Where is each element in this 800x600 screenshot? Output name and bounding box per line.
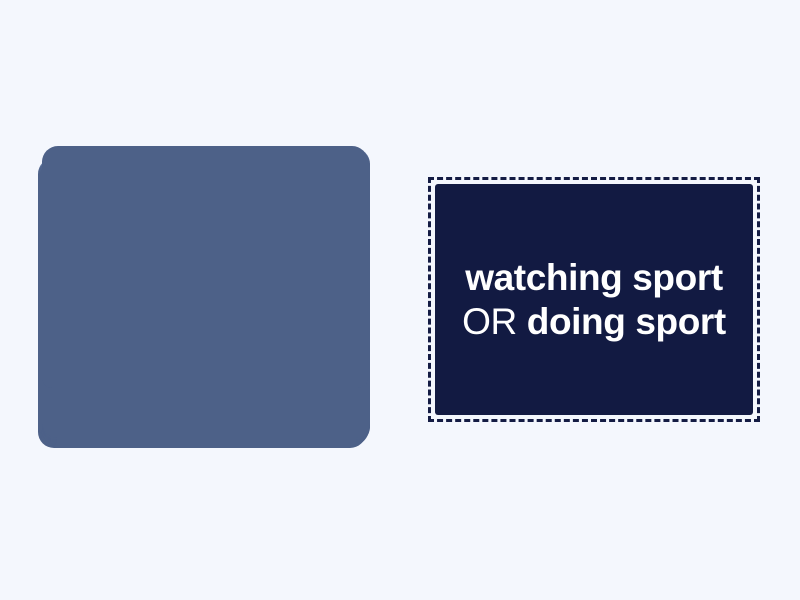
answer-line-2-conjunction: OR (462, 301, 517, 342)
deck-top-card-face[interactable] (42, 146, 368, 388)
answer-card[interactable]: watching sport OR doing sport (428, 177, 760, 422)
answer-line-2-spacer (517, 301, 527, 342)
card-deck[interactable] (40, 146, 370, 448)
answer-line-2-phrase: doing sport (527, 301, 726, 342)
flashcard-stage: watching sport OR doing sport (0, 0, 800, 600)
answer-line-1: watching sport (465, 256, 723, 300)
answer-card-inner: watching sport OR doing sport (435, 184, 753, 415)
answer-line-2: OR doing sport (462, 300, 726, 344)
